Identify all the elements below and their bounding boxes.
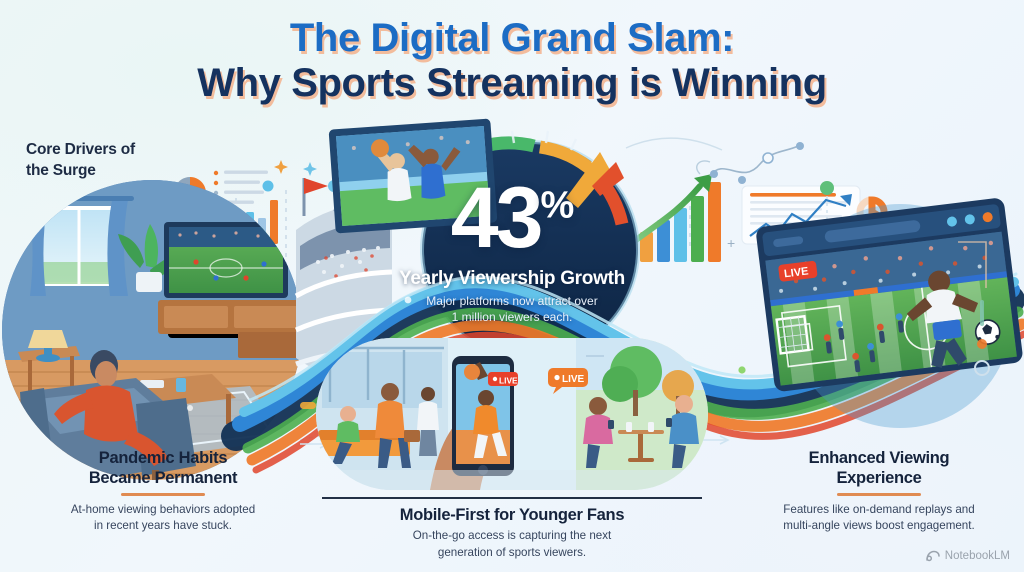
key-statistic: 43% Yearly Viewership Growth Major platf… — [302, 178, 722, 326]
kicker-line-1: Core Drivers of — [26, 141, 135, 158]
caption-right-heading-line-2: Experience — [836, 469, 921, 487]
caption-right-body-line-1: Features like on-demand replays and — [783, 503, 974, 516]
caption-middle-body-line-2: generation of sports viewers. — [438, 546, 586, 559]
caption-left-heading-line-2: Became Permanent — [89, 469, 237, 487]
caption-right-body: Features like on-demand replays and mult… — [748, 502, 1010, 535]
caption-left-divider — [121, 493, 205, 496]
caption-left-body-line-2: in recent years have stuck. — [94, 519, 232, 532]
stat-subtext-line-1: Major platforms now attract over — [426, 294, 597, 308]
page-title: The Digital Grand Slam: Why Sports Strea… — [0, 18, 1024, 104]
caption-middle-body-line-1: On-the-go access is capturing the next — [413, 529, 612, 542]
browser-window: LIVE — [755, 197, 1023, 392]
watermark-label: NotebookLM — [945, 550, 1010, 562]
stat-unit: % — [540, 184, 573, 226]
caption-mobile-first: Mobile-First for Younger Fans On-the-go … — [330, 505, 694, 561]
notebooklm-watermark: NotebookLM — [926, 550, 1010, 562]
title-line-1: The Digital Grand Slam: — [0, 18, 1024, 59]
caption-left-body: At-home viewing behaviors adopted in rec… — [28, 502, 298, 535]
stat-subtext: Major platforms now attract over 1 milli… — [302, 293, 722, 327]
caption-enhanced-viewing: Enhanced Viewing Experience Features lik… — [748, 448, 1010, 535]
stat-number: 43 — [451, 170, 541, 266]
caption-left-heading-line-1: Pandemic Habits — [99, 449, 227, 467]
caption-right-divider — [837, 493, 921, 496]
notebooklm-logo-icon — [926, 550, 940, 562]
kicker-line-2: the Surge — [26, 162, 96, 179]
caption-right-heading: Enhanced Viewing Experience — [748, 448, 1010, 488]
caption-middle-body: On-the-go access is capturing the next g… — [330, 528, 694, 561]
section-kicker: Core Drivers of the Surge — [26, 140, 135, 182]
caption-middle-heading: Mobile-First for Younger Fans — [330, 505, 694, 525]
caption-left-body-line-1: At-home viewing behaviors adopted — [71, 503, 255, 516]
caption-left-heading: Pandemic Habits Became Permanent — [28, 448, 298, 488]
infographic-canvas: + — [0, 0, 1024, 572]
title-line-2: Why Sports Streaming is Winning — [0, 63, 1024, 104]
stat-value-group: 43% — [302, 178, 722, 260]
caption-middle-divider — [322, 497, 702, 499]
caption-right-body-line-2: multi-angle views boost engagement. — [783, 519, 974, 532]
stat-headline: Yearly Viewership Growth — [302, 268, 722, 290]
caption-pandemic-habits: Pandemic Habits Became Permanent At-home… — [28, 448, 298, 535]
stat-subtext-line-2: 1 million viewers each. — [452, 310, 573, 324]
caption-right-heading-line-1: Enhanced Viewing — [809, 449, 950, 467]
